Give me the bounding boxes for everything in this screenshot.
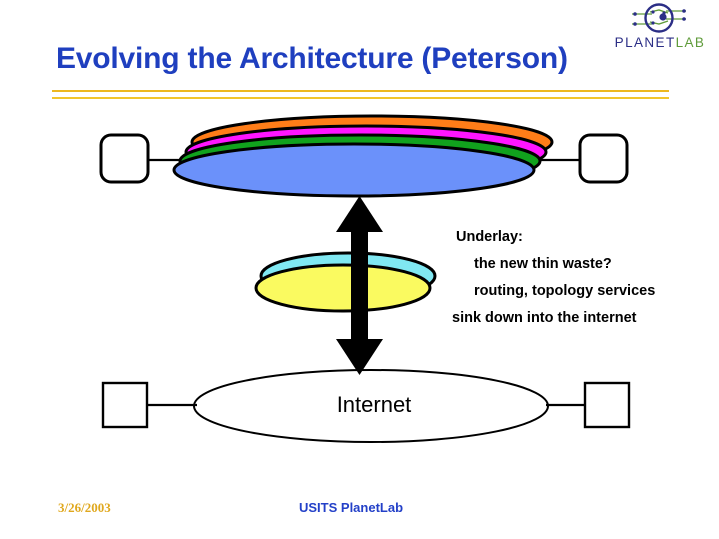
footer-date: 3/26/2003: [58, 500, 111, 516]
blue-overlay-layer: [174, 144, 534, 196]
overlay-node-right: [580, 135, 627, 182]
underlay-text-block: Underlay: the new thin waste? routing, t…: [452, 224, 702, 332]
internet-node-right: [585, 383, 629, 427]
underlay-text-line-3: sink down into the internet: [452, 305, 702, 332]
internet-node-left: [103, 383, 147, 427]
underlay-text-line-2: routing, topology services: [452, 278, 702, 305]
footer-center-text: USITS PlanetLab: [299, 500, 403, 515]
internet-label: Internet: [200, 392, 548, 418]
underlay-text-line-0: Underlay:: [452, 224, 702, 251]
yellow-underlay-layer: [256, 265, 430, 311]
underlay-text-line-1: the new thin waste?: [452, 251, 702, 278]
slide-canvas: PLANETLAB Evolving the Architecture (Pet…: [0, 0, 719, 539]
overlay-node-left: [101, 135, 148, 182]
